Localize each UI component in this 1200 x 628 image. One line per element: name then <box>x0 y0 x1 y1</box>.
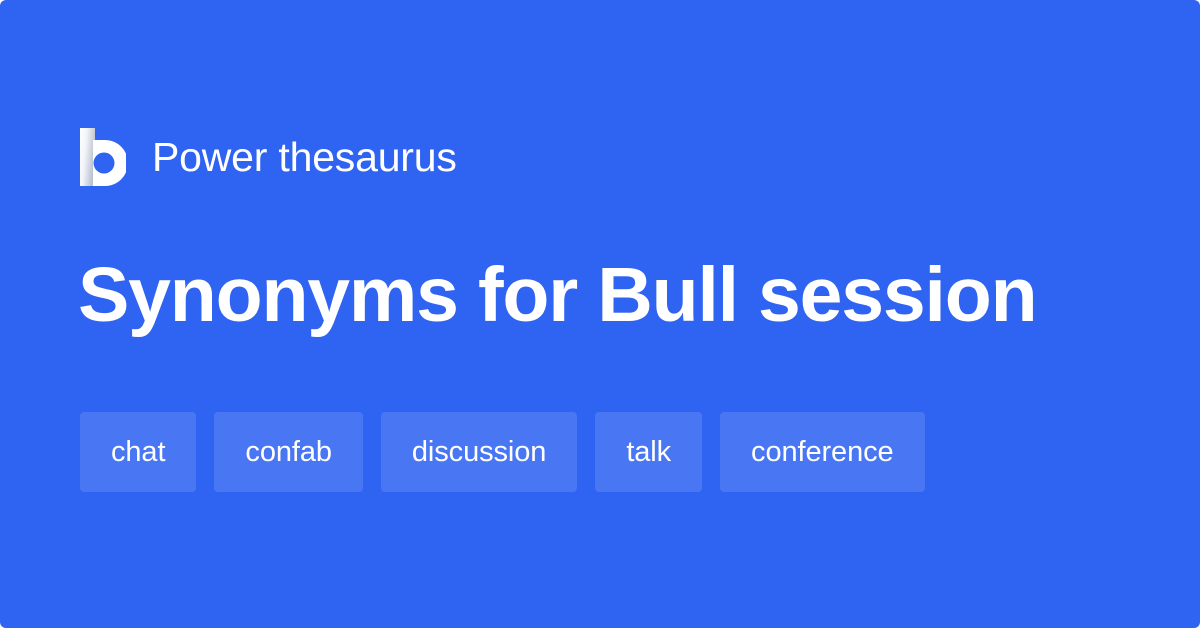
synonym-chip[interactable]: talk <box>595 412 702 492</box>
share-card: Power thesaurus Synonyms for Bull sessio… <box>0 0 1200 628</box>
synonym-chip[interactable]: chat <box>80 412 196 492</box>
synonym-chip[interactable]: discussion <box>381 412 577 492</box>
synonym-chip[interactable]: conference <box>720 412 925 492</box>
power-thesaurus-logo-icon <box>80 128 126 186</box>
brand-name: Power thesaurus <box>152 137 457 178</box>
synonym-chip[interactable]: confab <box>214 412 362 492</box>
page-title: Synonyms for Bull session <box>78 252 1138 338</box>
synonym-chip-list: chat confab discussion talk conference <box>80 412 925 492</box>
brand-header[interactable]: Power thesaurus <box>80 127 457 187</box>
